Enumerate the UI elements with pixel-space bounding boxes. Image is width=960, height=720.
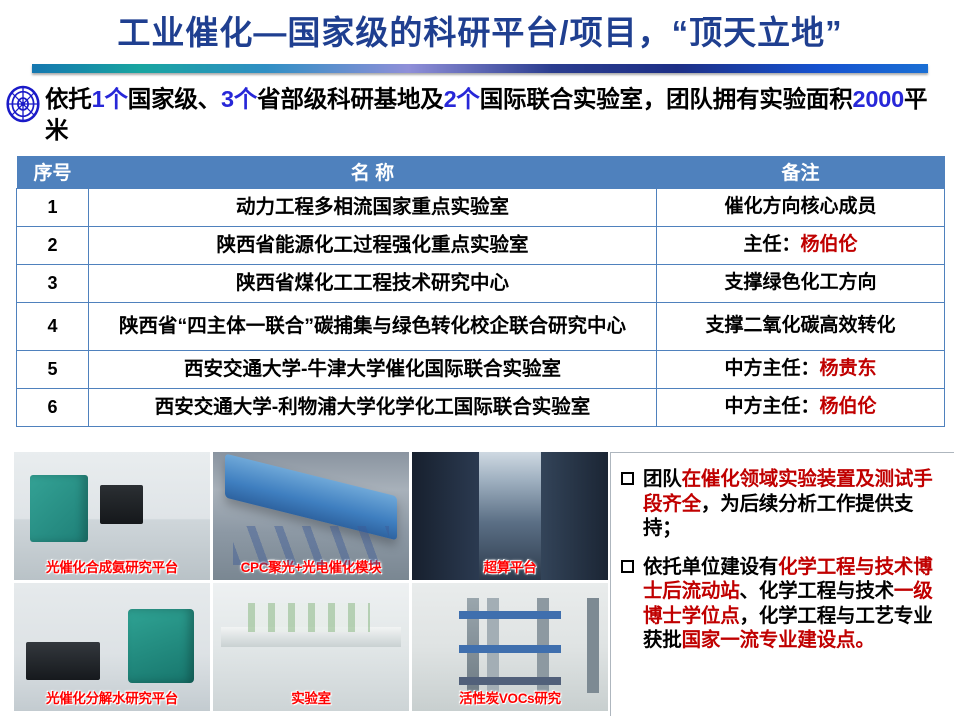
row-index: 5 xyxy=(17,350,89,388)
row-note: 主任：杨伯伦 xyxy=(657,226,945,264)
bullet1-seg1: 团队 xyxy=(643,468,682,490)
row-index: 3 xyxy=(17,264,89,302)
notes-panel: 团队在催化领域实验装置及测试手段齐全，为后续分析工作提供支持； 依托单位建设有化… xyxy=(610,452,954,716)
row-note: 催化方向核心成员 xyxy=(657,188,945,226)
row-index: 2 xyxy=(17,226,89,264)
photo-item: 实验室 xyxy=(213,583,409,711)
table-row: 4 陕西省“四主体一联合”碳捕集与绿色转化校企联合研究中心 支撑二氧化碳高效转化 xyxy=(17,302,945,350)
bullet2-seg1: 依托单位建设有 xyxy=(643,556,778,578)
photo-item: 光催化合成氨研究平台 xyxy=(14,452,210,580)
row-name: 西安交通大学-利物浦大学化学化工国际联合实验室 xyxy=(89,388,657,426)
table-row: 2 陕西省能源化工过程强化重点实验室 主任：杨伯伦 xyxy=(17,226,945,264)
row-name: 动力工程多相流国家重点实验室 xyxy=(89,188,657,226)
table-row: 3 陕西省煤化工工程技术研究中心 支撑绿色化工方向 xyxy=(17,264,945,302)
bullet2-seg7: 。 xyxy=(855,629,874,651)
row-index: 4 xyxy=(17,302,89,350)
row-note: 支撑绿色化工方向 xyxy=(657,264,945,302)
photo-caption: 光催化合成氨研究平台 xyxy=(14,556,210,576)
slide-root: 工业催化—国家级的科研平台/项目，“顶天立地” 依托1个国家级、3个省部级科研基… xyxy=(0,0,960,720)
row-note: 中方主任：杨伯伦 xyxy=(657,388,945,426)
row-name: 陕西省“四主体一联合”碳捕集与绿色转化校企联合研究中心 xyxy=(89,302,657,350)
table-row: 1 动力工程多相流国家重点实验室 催化方向核心成员 xyxy=(17,188,945,226)
photo-caption: 活性炭VOCs研究 xyxy=(412,687,608,707)
row-name: 陕西省能源化工过程强化重点实验室 xyxy=(89,226,657,264)
row-note: 支撑二氧化碳高效转化 xyxy=(657,302,945,350)
photo-item: CPC聚光+光电催化模块 xyxy=(213,452,409,580)
lead-paragraph: 依托1个国家级、3个省部级科研基地及2个国际联合实验室，团队拥有实验面积2000… xyxy=(45,84,950,147)
lead-count-national: 1个 xyxy=(92,86,128,112)
photo-caption: CPC聚光+光电催化模块 xyxy=(213,556,409,576)
photo-item: 活性炭VOCs研究 xyxy=(412,583,608,711)
col-header-note: 备注 xyxy=(657,156,945,188)
lead-seg-4: 国际联合实验室，团队拥有实验面 xyxy=(480,86,830,112)
photo-grid: 光催化合成氨研究平台 CPC聚光+光电催化模块 超算平台 光催化分解水研究平台 … xyxy=(14,452,602,714)
col-header-index: 序号 xyxy=(17,156,89,188)
row-name: 西安交通大学-牛津大学催化国际联合实验室 xyxy=(89,350,657,388)
bullet2-seg6: 国家一流专业建设点 xyxy=(682,629,856,651)
square-bullet-icon xyxy=(621,472,634,485)
photo-caption: 实验室 xyxy=(213,687,409,707)
row-note: 中方主任：杨贵东 xyxy=(657,350,945,388)
photo-caption: 光催化分解水研究平台 xyxy=(14,687,210,707)
bullet-item: 团队在催化领域实验装置及测试手段齐全，为后续分析工作提供支持； xyxy=(617,467,948,541)
lead-count-provincial: 3个 xyxy=(221,86,257,112)
table-row: 6 西安交通大学-利物浦大学化学化工国际联合实验室 中方主任：杨伯伦 xyxy=(17,388,945,426)
row-index: 6 xyxy=(17,388,89,426)
bullet-item: 依托单位建设有化学工程与技术博士后流动站、化学工程与技术一级博士学位点，化学工程… xyxy=(617,555,948,653)
lead-seg-1: 依托 xyxy=(45,86,92,112)
photo-item: 光催化分解水研究平台 xyxy=(14,583,210,711)
lead-seg-2: 国家级、 xyxy=(128,86,221,112)
lead-seg-3: 省部级科研基地及 xyxy=(257,86,443,112)
lead-seg-5: 积 xyxy=(829,86,852,112)
table-header-row: 序号 名 称 备注 xyxy=(17,156,945,188)
photo-item: 超算平台 xyxy=(412,452,608,580)
title-accent-bar xyxy=(32,64,928,73)
col-header-name: 名 称 xyxy=(89,156,657,188)
bullet-text: 依托单位建设有化学工程与技术博士后流动站、化学工程与技术一级博士学位点，化学工程… xyxy=(643,555,948,653)
row-name: 陕西省煤化工工程技术研究中心 xyxy=(89,264,657,302)
bullet2-seg3: 、化学工程与技术 xyxy=(740,580,894,602)
globe-wheel-icon xyxy=(6,85,40,123)
platforms-table: 序号 名 称 备注 1 动力工程多相流国家重点实验室 催化方向核心成员 2 陕西… xyxy=(16,156,945,427)
square-bullet-icon xyxy=(621,560,634,573)
row-index: 1 xyxy=(17,188,89,226)
bullet-text: 团队在催化领域实验装置及测试手段齐全，为后续分析工作提供支持； xyxy=(643,467,948,541)
photo-caption: 超算平台 xyxy=(412,556,608,576)
table-row: 5 西安交通大学-牛津大学催化国际联合实验室 中方主任：杨贵东 xyxy=(17,350,945,388)
lead-area-value: 2000 xyxy=(853,86,904,112)
page-title: 工业催化—国家级的科研平台/项目，“顶天立地” xyxy=(0,6,960,54)
lead-count-international: 2个 xyxy=(444,86,480,112)
